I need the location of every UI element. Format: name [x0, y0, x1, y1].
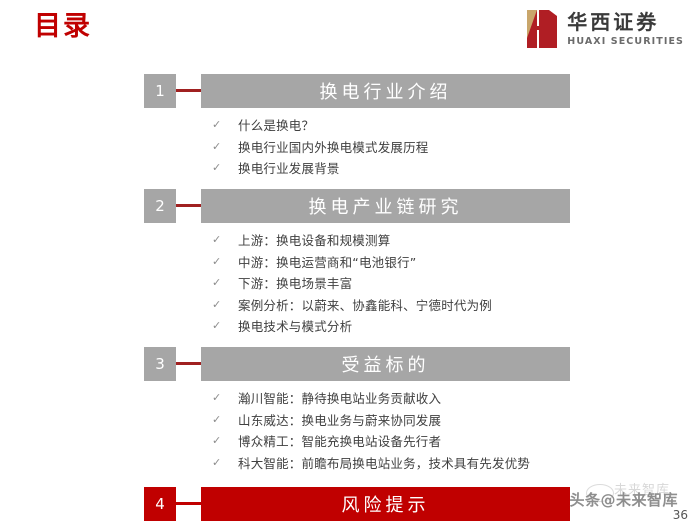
agenda-section-4-number: 4: [144, 487, 176, 521]
agenda-section-3-bullets: ✓ 瀚川智能：静待换电站业务贡献收入 ✓ 山东威达：换电业务与蔚来协同发展 ✓ …: [0, 388, 700, 475]
spacer: [0, 338, 700, 347]
check-icon: ✓: [212, 233, 238, 247]
agenda-section-1-title: 换电行业介绍: [201, 74, 570, 108]
brand-logo: 华西证券 HUAXI SECURITIES: [525, 8, 684, 50]
list-item-label: 案例分析：以蔚来、协鑫能科、宁德时代为例: [238, 298, 492, 314]
agenda-section-1-bullets: ✓ 什么是换电？ ✓ 换电行业国内外换电模式发展历程 ✓ 换电行业发展背景: [0, 115, 700, 180]
check-icon: ✓: [212, 298, 238, 312]
agenda-section-3-title: 受益标的: [201, 347, 570, 381]
list-item-label: 什么是换电？: [238, 118, 314, 134]
list-item: ✓ 瀚川智能：静待换电站业务贡献收入: [212, 388, 700, 410]
brand-name-cn: 华西证券: [567, 11, 684, 34]
agenda-section-3-number: 3: [144, 347, 176, 381]
list-item: ✓ 什么是换电？: [212, 115, 700, 137]
agenda-section-2-number: 2: [144, 189, 176, 223]
list-item: ✓ 下游：换电场景丰富: [212, 273, 700, 295]
list-item: ✓ 中游：换电运营商和“电池银行”: [212, 252, 700, 274]
list-item-label: 博众精工：智能充换电站设备先行者: [238, 434, 441, 450]
check-icon: ✓: [212, 456, 238, 470]
list-item-label: 科大智能：前瞻布局换电站业务，技术具有先发优势: [238, 456, 530, 472]
brand-name-en: HUAXI SECURITIES: [567, 36, 684, 47]
list-item: ✓ 换电行业国内外换电模式发展历程: [212, 137, 700, 159]
huaxi-h-mark-icon: [525, 8, 559, 50]
agenda-section-3-header[interactable]: 3 受益标的: [0, 347, 700, 381]
watermark-text: 头条@未来智库: [569, 489, 678, 510]
check-icon: ✓: [212, 118, 238, 132]
agenda-section-3[interactable]: 3 受益标的 ✓ 瀚川智能：静待换电站业务贡献收入 ✓ 山东威达：换电业务与蔚来…: [0, 347, 700, 475]
check-icon: ✓: [212, 140, 238, 154]
list-item-label: 换电技术与模式分析: [238, 319, 352, 335]
check-icon: ✓: [212, 434, 238, 448]
page-number: 36: [673, 508, 688, 522]
list-item: ✓ 山东威达：换电业务与蔚来协同发展: [212, 410, 700, 432]
list-item: ✓ 博众精工：智能充换电站设备先行者: [212, 431, 700, 453]
list-item-label: 换电行业国内外换电模式发展历程: [238, 140, 429, 156]
agenda-section-1-header[interactable]: 1 换电行业介绍: [0, 74, 700, 108]
list-item-label: 上游：换电设备和规模测算: [238, 233, 390, 249]
check-icon: ✓: [212, 255, 238, 269]
list-item-label: 下游：换电场景丰富: [238, 276, 352, 292]
agenda-section-1[interactable]: 1 换电行业介绍 ✓ 什么是换电？ ✓ 换电行业国内外换电模式发展历程 ✓ 换电…: [0, 74, 700, 180]
check-icon: ✓: [212, 391, 238, 405]
agenda-list: 1 换电行业介绍 ✓ 什么是换电？ ✓ 换电行业国内外换电模式发展历程 ✓ 换电…: [0, 74, 700, 521]
list-item: ✓ 案例分析：以蔚来、协鑫能科、宁德时代为例: [212, 295, 700, 317]
list-item-label: 中游：换电运营商和“电池银行”: [238, 255, 416, 271]
check-icon: ✓: [212, 413, 238, 427]
check-icon: ✓: [212, 161, 238, 175]
page-title: 目录: [34, 12, 92, 42]
agenda-section-2-header[interactable]: 2 换电产业链研究: [0, 189, 700, 223]
brand-text: 华西证券 HUAXI SECURITIES: [567, 11, 684, 47]
check-icon: ✓: [212, 319, 238, 333]
list-item-label: 山东威达：换电业务与蔚来协同发展: [238, 413, 441, 429]
agenda-section-2-bullets: ✓ 上游：换电设备和规模测算 ✓ 中游：换电运营商和“电池银行” ✓ 下游：换电…: [0, 230, 700, 338]
list-item-label: 换电行业发展背景: [238, 161, 340, 177]
list-item: ✓ 换电技术与模式分析: [212, 316, 700, 338]
check-icon: ✓: [212, 276, 238, 290]
list-item: ✓ 上游：换电设备和规模测算: [212, 230, 700, 252]
list-item: ✓ 换电行业发展背景: [212, 158, 700, 180]
agenda-section-1-number: 1: [144, 74, 176, 108]
agenda-section-2[interactable]: 2 换电产业链研究 ✓ 上游：换电设备和规模测算 ✓ 中游：换电运营商和“电池银…: [0, 189, 700, 338]
agenda-section-2-title: 换电产业链研究: [201, 189, 570, 223]
list-item-label: 瀚川智能：静待换电站业务贡献收入: [238, 391, 441, 407]
list-item: ✓ 科大智能：前瞻布局换电站业务，技术具有先发优势: [212, 453, 700, 475]
agenda-section-4-title: 风险提示: [201, 487, 570, 521]
spacer: [0, 180, 700, 189]
